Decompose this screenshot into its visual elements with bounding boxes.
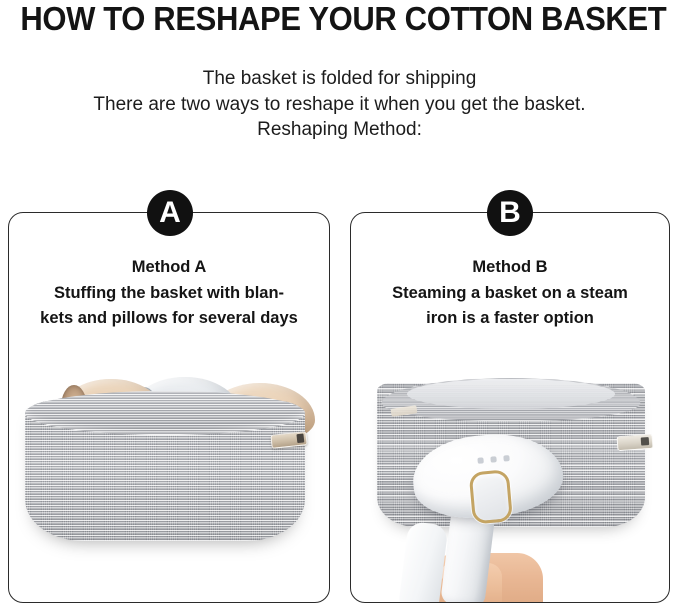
basket-with-blankets-illustration	[9, 361, 329, 602]
subtitle-block: The basket is folded for shipping There …	[0, 66, 679, 143]
subtitle-line-3: Reshaping Method:	[0, 117, 679, 143]
steamer-dot-1	[477, 457, 484, 464]
steamer-dot-3	[503, 455, 510, 462]
method-b-panel: B Method B Steaming a basket on a steam …	[350, 212, 670, 603]
badge-b: B	[487, 190, 533, 236]
basket-b-right-handle	[617, 434, 654, 451]
basket-with-steamer-illustration	[351, 363, 669, 602]
steamer-indicator-dots	[477, 454, 519, 465]
subtitle-line-1: The basket is folded for shipping	[0, 66, 679, 92]
method-a-panel: A Method A Stuffing the basket with blan…	[8, 212, 330, 603]
method-a-illustration-clip	[9, 213, 329, 602]
badge-a: A	[147, 190, 193, 236]
basket-a-rim	[25, 391, 305, 435]
subtitle-line-2: There are two ways to reshape it when yo…	[0, 92, 679, 118]
method-b-illustration-clip	[351, 213, 669, 602]
basket-b-inner-mouth	[407, 379, 615, 409]
page-title: HOW TO RESHAPE YOUR COTTON BASKET	[20, 0, 658, 38]
steamer-dot-2	[490, 456, 497, 463]
steamer-power-button[interactable]	[469, 469, 513, 524]
